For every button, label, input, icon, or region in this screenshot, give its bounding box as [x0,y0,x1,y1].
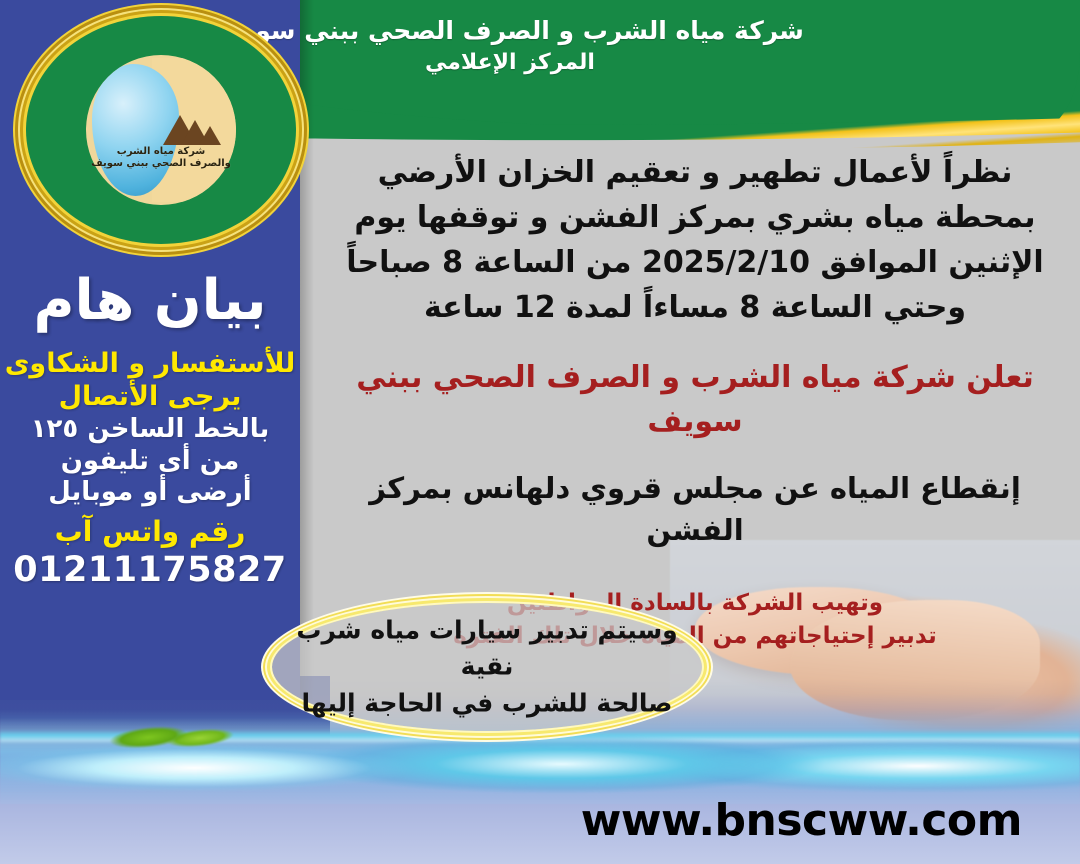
important-statement-title: بيان هام [0,268,300,333]
maintenance-notice-paragraph: نظراً لأعمال تطهير و تعقيم الخزان الأرضي… [310,150,1080,330]
logo-caption: شركة مياه الشرب والصرف الصحي ببني سويف [66,146,256,170]
announcement-poster: شركة مياه الشرب و الصرف الصحي ببني سويف … [0,0,1080,864]
logo-caption-line-2: والصرف الصحي ببني سويف [66,158,256,170]
any-phone-label: من أى تليفون [0,446,300,478]
please-call-label: يرجى الأتصال [0,381,300,414]
inquiries-label: للأستفسار و الشكاوى [0,348,300,381]
pyramid-shape-small [199,126,221,145]
main-content-column: نظراً لأعمال تطهير و تعقيم الخزان الأرضي… [310,150,1080,654]
contact-info-block: للأستفسار و الشكاوى يرجى الأتصال بالخط ا… [0,348,300,592]
callout-text: وسيتم تدبير سيارات مياه شرب نقية صالحة ل… [292,613,682,722]
callout-line-2: صالحة للشرب في الحاجة إليها [292,685,682,721]
whatsapp-number[interactable]: 01211175827 [0,549,300,592]
landline-or-mobile-label: أرضى أو موبايل [0,477,300,509]
hotline-label: بالخط الساخن ١٢٥ [0,414,300,446]
globe-icon [86,55,236,205]
website-url[interactable]: www.bnscww.com [581,795,1022,846]
company-logo: شركة مياه الشرب والصرف الصحي ببني سويف [26,16,296,244]
water-outage-statement: إنقطاع المياه عن مجلس قروي دلهانس بمركز … [310,467,1080,551]
whatsapp-label: رقم واتس آب [0,515,300,549]
logo-caption-line-1: شركة مياه الشرب [66,146,256,158]
callout-line-1: وسيتم تدبير سيارات مياه شرب نقية [292,613,682,686]
pyramids-icon [161,94,230,145]
company-announcement-heading: تعلن شركة مياه الشرب و الصرف الصحي ببني … [310,356,1080,443]
water-tanker-callout: وسيتم تدبير سيارات مياه شرب نقية صالحة ل… [272,603,702,731]
